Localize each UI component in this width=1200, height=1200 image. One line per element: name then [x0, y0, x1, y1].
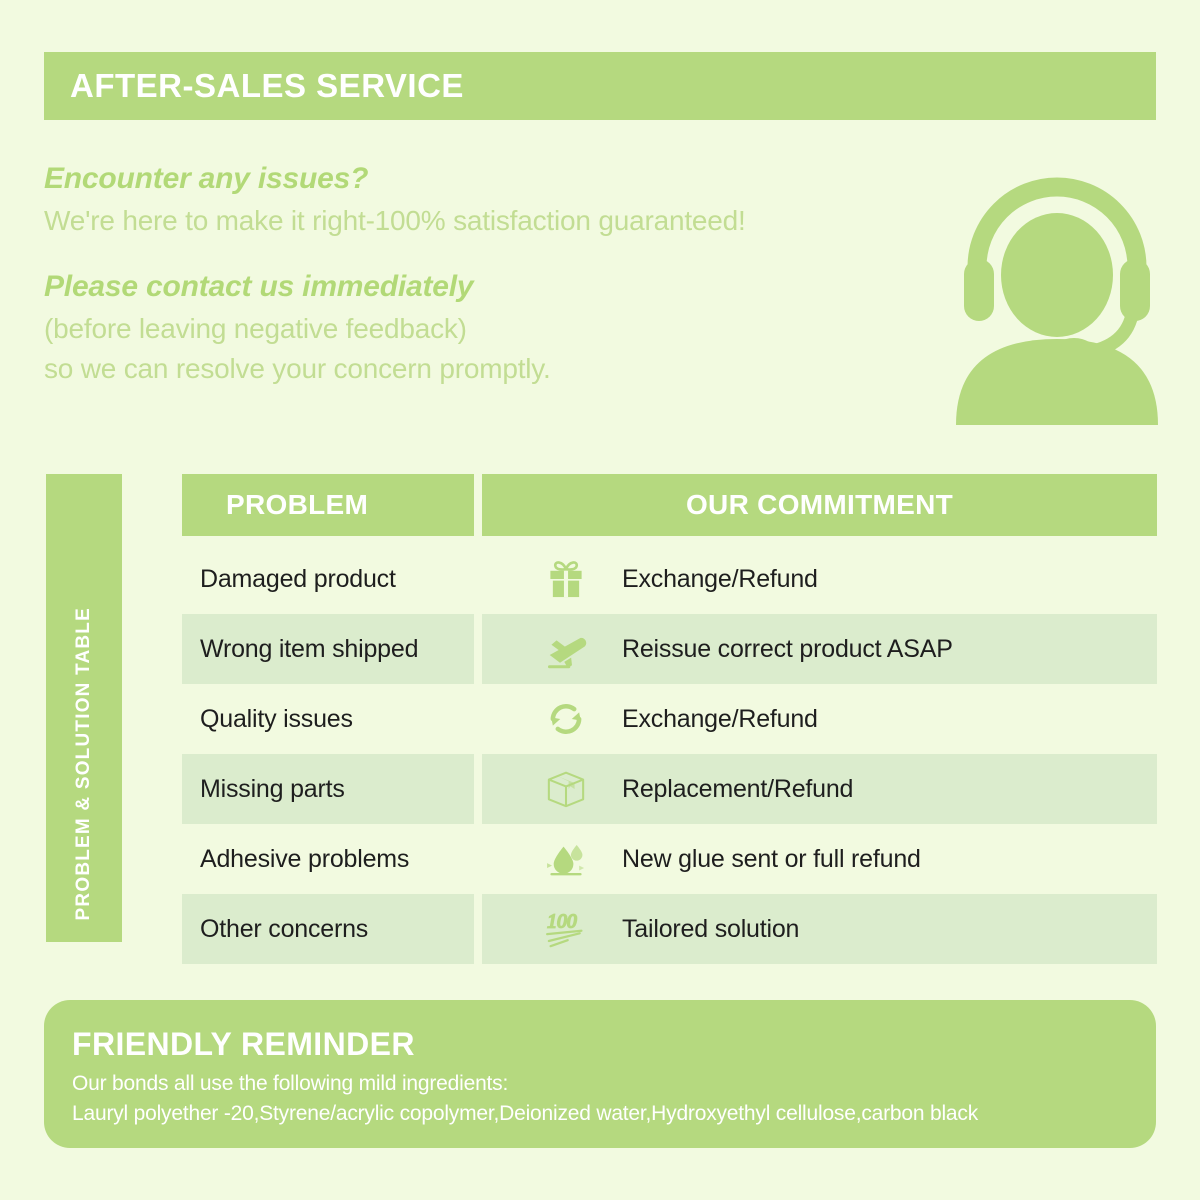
reminder-title: FRIENDLY REMINDER — [72, 1026, 1156, 1063]
intro-heading-1: Encounter any issues? — [44, 158, 944, 201]
table-row: Quality issuesExchange/Refund — [182, 684, 1157, 754]
svg-text:100: 100 — [547, 910, 577, 932]
column-header-problem: PROBLEM — [182, 474, 474, 536]
cell-problem: Wrong item shipped — [182, 614, 474, 684]
glue-droplet-icon — [538, 836, 594, 882]
reminder-line-2: Lauryl polyether -20,Styrene/acrylic cop… — [72, 1099, 1156, 1129]
table-row: Adhesive problemsNew glue sent or full r… — [182, 824, 1157, 894]
cell-problem: Other concerns — [182, 894, 474, 964]
intro-block: Encounter any issues? We're here to make… — [44, 158, 944, 388]
cell-commitment: Exchange/Refund — [482, 544, 1157, 614]
commitment-text: Replacement/Refund — [622, 775, 853, 804]
sidebar-label-bar: PROBLEM & SOLUTION TABLE — [46, 474, 122, 942]
gift-box-icon — [538, 556, 594, 602]
commitment-text: Reissue correct product ASAP — [622, 635, 953, 664]
cell-problem: Adhesive problems — [182, 824, 474, 894]
cell-commitment: 100Tailored solution — [482, 894, 1157, 964]
page-title: AFTER-SALES SERVICE — [44, 67, 464, 105]
intro-spacer — [44, 240, 944, 266]
intro-line-1: We're here to make it right-100% satisfa… — [44, 201, 944, 241]
reminder-line-1: Our bonds all use the following mild ing… — [72, 1069, 1156, 1099]
commitment-text: Exchange/Refund — [622, 565, 818, 594]
cell-commitment: New glue sent or full refund — [482, 824, 1157, 894]
commitment-text: Tailored solution — [622, 915, 799, 944]
header-banner: AFTER-SALES SERVICE — [44, 52, 1156, 120]
cell-problem: Missing parts — [182, 754, 474, 824]
package-box-icon — [538, 765, 594, 813]
sidebar-label-text: PROBLEM & SOLUTION TABLE — [73, 585, 95, 942]
table-row: Other concerns100Tailored solution — [182, 894, 1157, 964]
airplane-icon — [538, 625, 594, 673]
intro-line-2: (before leaving negative feedback) — [44, 309, 944, 349]
table-header-row: PROBLEM OUR COMMITMENT — [182, 474, 1157, 536]
cell-commitment: Replacement/Refund — [482, 754, 1157, 824]
problem-solution-table: PROBLEM OUR COMMITMENT Damaged productEx… — [182, 474, 1157, 964]
commitment-text: Exchange/Refund — [622, 705, 818, 734]
column-header-commitment: OUR COMMITMENT — [482, 474, 1157, 536]
commitment-text: New glue sent or full refund — [622, 845, 921, 874]
intro-heading-2: Please contact us immediately — [44, 266, 944, 309]
table-row: Damaged productExchange/Refund — [182, 544, 1157, 614]
cell-problem: Damaged product — [182, 544, 474, 614]
table-row: Wrong item shippedReissue correct produc… — [182, 614, 1157, 684]
table-row: Missing partsReplacement/Refund — [182, 754, 1157, 824]
exchange-cycle-icon — [538, 696, 594, 742]
cell-commitment: Exchange/Refund — [482, 684, 1157, 754]
intro-line-3: so we can resolve your concern promptly. — [44, 349, 944, 389]
support-agent-headset-icon — [946, 163, 1168, 425]
hundred-score-icon: 100 — [538, 905, 594, 953]
table-body: Damaged productExchange/RefundWrong item… — [182, 544, 1157, 964]
cell-commitment: Reissue correct product ASAP — [482, 614, 1157, 684]
cell-problem: Quality issues — [182, 684, 474, 754]
friendly-reminder-card: FRIENDLY REMINDER Our bonds all use the … — [44, 1000, 1156, 1148]
